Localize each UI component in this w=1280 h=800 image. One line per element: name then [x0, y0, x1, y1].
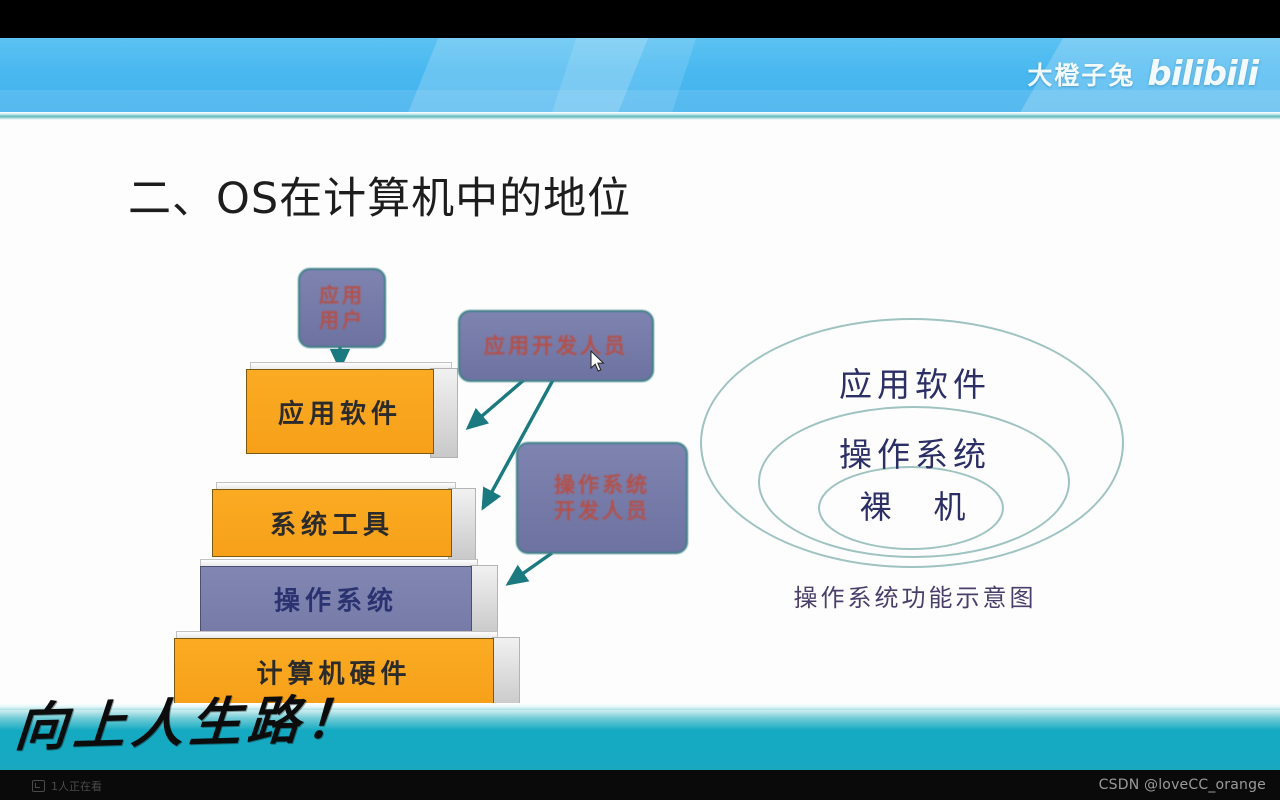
- pyramid-layer-2-side: [448, 488, 476, 560]
- csdn-watermark: CSDN @loveCC_orange: [1099, 777, 1266, 793]
- letterbox-top: [0, 0, 1280, 38]
- video-player-surface[interactable]: 大橙子兔 bilibili 二、OS在计算机中的地位: [0, 0, 1280, 770]
- os-function-ellipse-diagram: 应用软件 操作系统 裸 机 操作系统功能示意图: [690, 310, 1140, 640]
- pyramid-layer-3: 操作系统: [200, 566, 472, 632]
- pyramid-layer-1: 应用软件: [246, 369, 434, 454]
- pyramid-layer-2: 系统工具: [212, 489, 452, 557]
- ellipse-middle-label: 操作系统: [690, 428, 1140, 476]
- ellipse-diagram-caption: 操作系统功能示意图: [690, 578, 1140, 613]
- callout-app-developer-label: 应用开发人员: [484, 333, 628, 359]
- presentation-slide: 大橙子兔 bilibili 二、OS在计算机中的地位: [0, 38, 1280, 770]
- mouse-cursor: [590, 350, 606, 374]
- footer-calligraphy-text: 向上人生路！: [13, 676, 368, 760]
- callout-os-developer: 操作系统 开发人员: [516, 442, 688, 554]
- callout-app-user: 应用 用户: [298, 268, 386, 348]
- screen-root: 大橙子兔 bilibili 二、OS在计算机中的地位: [0, 0, 1280, 800]
- viewers-count: 1人正在看: [32, 778, 102, 794]
- callout-app-user-label: 应用 用户: [319, 283, 365, 333]
- viewers-count-label: 1人正在看: [51, 778, 102, 794]
- pyramid-layer-3-label: 操作系统: [201, 581, 471, 618]
- callout-app-developer: 应用开发人员: [458, 310, 654, 382]
- player-bottom-bar[interactable]: 1人正在看 CSDN @loveCC_orange: [0, 770, 1280, 800]
- callout-os-developer-label: 操作系统 开发人员: [554, 472, 650, 525]
- pyramid-layer-1-label: 应用软件: [247, 393, 433, 430]
- pyramid-layer-4-side: [492, 637, 520, 709]
- ellipse-inner-label: 裸 机: [690, 482, 1140, 528]
- viewers-icon: [32, 780, 45, 792]
- pyramid-layer-1-side: [430, 368, 458, 458]
- ellipse-outer-label: 应用软件: [690, 358, 1140, 406]
- pyramid-layer-2-label: 系统工具: [213, 505, 451, 542]
- pyramid-layer-3-side: [470, 565, 498, 635]
